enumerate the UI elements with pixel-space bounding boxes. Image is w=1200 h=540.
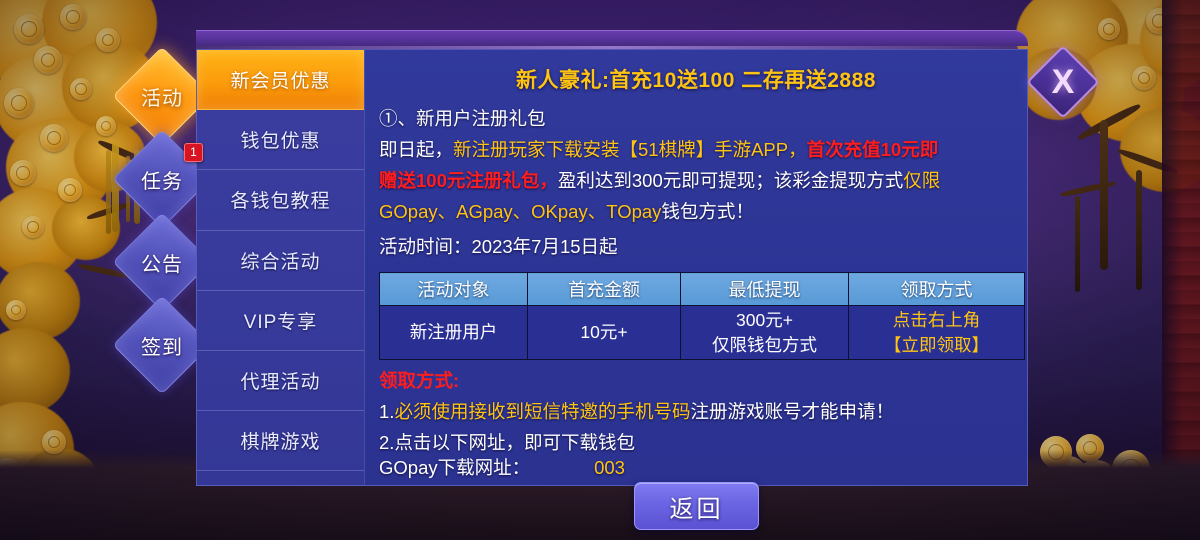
tab-general-activities[interactable]: 综合活动 — [197, 231, 364, 291]
claim-step-1: 1.必须使用接收到短信特邀的手机号码注册游戏账号才能申请！ — [379, 396, 1013, 427]
tab-agent-activities[interactable]: 代理活动 — [197, 351, 364, 411]
tab-card-games[interactable]: 棋牌游戏 — [197, 411, 364, 471]
text-red: 首次充值10元即 — [807, 139, 939, 160]
section-heading-1: ①、新用户注册礼包 — [379, 103, 1013, 134]
table-header-cell: 领取方式 — [849, 273, 1025, 306]
panel-body: 新会员优惠 钱包优惠 各钱包教程 综合活动 VIP专享 代理活动 棋牌游戏 — [196, 49, 1028, 486]
paragraph-line-2: 赠送100元注册礼包，盈利达到300元即可提现；该彩金提现方式仅限 — [379, 165, 1013, 196]
table-header-cell: 活动对象 — [380, 273, 528, 306]
text-gold: 003 — [594, 458, 625, 478]
tab-label: 综合活动 — [240, 247, 320, 274]
tab-wallet-offer[interactable]: 钱包优惠 — [197, 110, 364, 170]
paragraph-line-1: 即日起，新注册玩家下载安装【51棋牌】手游APP，首次充值10元即 — [379, 134, 1013, 165]
tab-label: 棋牌游戏 — [240, 427, 320, 454]
promotion-paragraph: 即日起，新注册玩家下载安装【51棋牌】手游APP，首次充值10元即 赠送100元… — [379, 134, 1013, 227]
step-number: 1. — [379, 401, 394, 422]
text-white: 即日起， — [379, 139, 453, 160]
table-cell-min-withdraw: 300元+ 仅限钱包方式 — [681, 306, 849, 360]
claim-method-heading: 领取方式: — [379, 366, 1013, 396]
claim-step-2: 2.点击以下网址，即可下载钱包 — [379, 427, 1013, 458]
min-withdraw-line-1: 300元+ — [736, 310, 793, 330]
table-cell-first-deposit: 10元+ — [528, 306, 681, 360]
tab-label: 代理活动 — [240, 367, 320, 394]
nav-item-activity[interactable]: 活动 — [118, 52, 206, 140]
text-gold: 新注册玩家下载安装【51棋牌】手游APP， — [453, 139, 807, 160]
min-withdraw-line-2: 仅限钱包方式 — [712, 335, 817, 355]
tab-list: 新会员优惠 钱包优惠 各钱包教程 综合活动 VIP专享 代理活动 棋牌游戏 — [196, 49, 364, 486]
text-red: 赠送100元注册礼包， — [379, 170, 558, 191]
step-number: 2. — [379, 432, 394, 453]
promotion-content[interactable]: 新人豪礼:首充10送100 二存再送2888 ①、新用户注册礼包 即日起，新注册… — [364, 49, 1028, 486]
text-gold: GOpay、AGpay、OKpay、TOpay — [379, 201, 661, 222]
tab-label: VIP专享 — [244, 307, 318, 334]
tab-label: 各钱包教程 — [230, 186, 330, 213]
table-cell-target: 新注册用户 — [380, 306, 528, 360]
nav-item-checkin[interactable]: 签到 — [118, 301, 206, 389]
back-button-label: 返回 — [670, 489, 724, 524]
text-white: 盈利达到300元即可提现；该彩金提现方式 — [558, 170, 903, 191]
left-navigation: 活动 任务 1 公告 签到 — [118, 52, 208, 384]
tab-label: 新会员优惠 — [230, 66, 330, 93]
paragraph-line-3: GOpay、AGpay、OKpay、TOpay钱包方式！ — [379, 196, 1013, 227]
nav-item-announcement[interactable]: 公告 — [118, 218, 206, 306]
tab-new-member-offer[interactable]: 新会员优惠 — [197, 50, 364, 110]
promotion-title: 新人豪礼:首充10送100 二存再送2888 — [379, 64, 1013, 94]
claim-line-1: 点击右上角 — [893, 310, 981, 330]
notification-badge: 1 — [184, 143, 203, 162]
tab-label: 钱包优惠 — [240, 126, 320, 153]
clipped-download-line: GOpay下载网址：003 — [379, 458, 1013, 478]
table-header-cell: 首充金额 — [528, 273, 681, 306]
table-header-cell: 最低提现 — [681, 273, 849, 306]
close-button[interactable]: X — [1031, 50, 1095, 114]
tab-wallet-tutorials[interactable]: 各钱包教程 — [197, 170, 364, 230]
claim-line-2: 【立即领取】 — [884, 335, 989, 355]
table-header-row: 活动对象 首充金额 最低提现 领取方式 — [380, 273, 1025, 306]
text-gold: 必须使用接收到短信特邀的手机号码 — [394, 401, 690, 422]
close-icon: X — [1031, 50, 1095, 114]
tab-vip-exclusive[interactable]: VIP专享 — [197, 291, 364, 351]
table-cell-claim-method: 点击右上角 【立即领取】 — [849, 306, 1025, 360]
activity-panel: 新会员优惠 钱包优惠 各钱包教程 综合活动 VIP专享 代理活动 棋牌游戏 — [196, 30, 1028, 486]
event-time: 活动时间：2023年7月15日起 — [379, 231, 1013, 262]
panel-top-bar — [196, 30, 1028, 46]
nav-item-task[interactable]: 任务 1 — [118, 135, 206, 223]
text-white: GOpay下载网址： — [379, 458, 530, 478]
text-white: 注册游戏账号才能申请！ — [690, 401, 894, 422]
text-white: 钱包方式！ — [661, 201, 754, 222]
table-row: 新注册用户 10元+ 300元+ 仅限钱包方式 点击右上角 【立即领取】 — [380, 306, 1025, 360]
text-white: 点击以下网址，即可下载钱包 — [394, 432, 635, 453]
text-gold: 仅限 — [903, 170, 940, 191]
back-button[interactable]: 返回 — [634, 482, 759, 530]
promotion-table: 活动对象 首充金额 最低提现 领取方式 新注册用户 10元+ 300元+ 仅限钱… — [379, 272, 1025, 360]
